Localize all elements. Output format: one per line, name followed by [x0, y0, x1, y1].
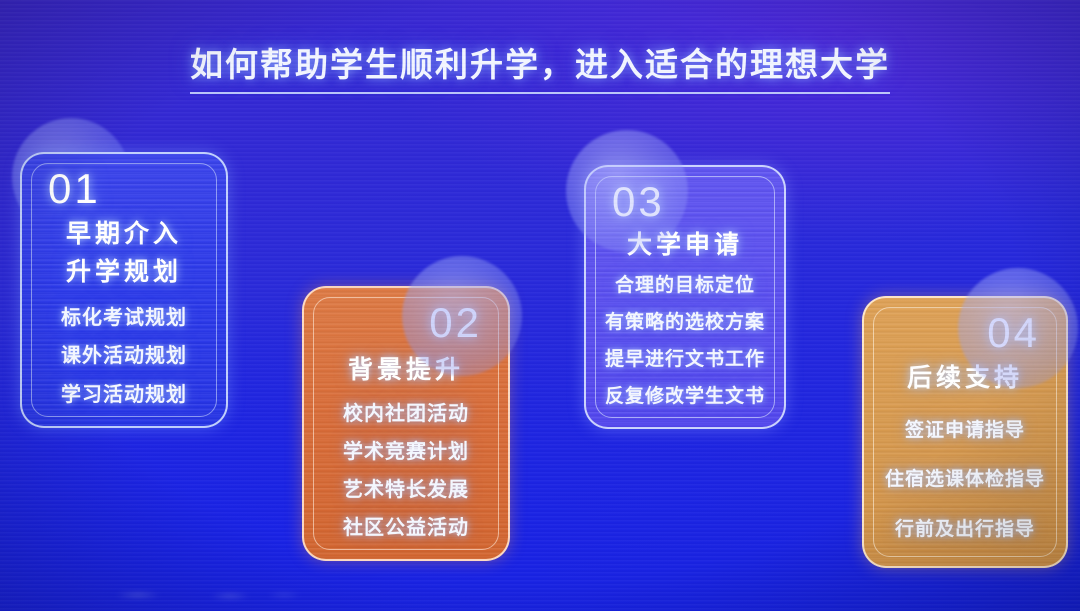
card-item: 学术竞赛计划 — [314, 435, 498, 464]
card-item: 社区公益活动 — [314, 511, 498, 540]
presentation-slide: 如何帮助学生顺利升学，进入适合的理想大学 01 早期介入 升学规划 标化考试规划… — [0, 0, 1080, 611]
card-item: 提早进行文书工作 — [596, 344, 774, 371]
card-item: 校内社团活动 — [314, 397, 498, 426]
card-item: 艺术特长发展 — [314, 473, 498, 502]
decorative-circle-4 — [958, 268, 1078, 388]
card-heading-line1: 早期介入 — [32, 214, 216, 250]
card-item: 标化考试规划 — [32, 301, 216, 330]
decorative-circle-3 — [566, 130, 688, 252]
card-item: 行前及出行指导 — [874, 514, 1056, 541]
card-item: 课外活动规划 — [32, 339, 216, 368]
card-heading-line2: 升学规划 — [32, 252, 216, 288]
decorative-circle-2 — [402, 256, 522, 376]
card-01[interactable]: 01 早期介入 升学规划 标化考试规划 课外活动规划 学习活动规划 — [20, 152, 228, 428]
card-item: 签证申请指导 — [874, 415, 1056, 442]
card-item: 有策略的选校方案 — [596, 307, 774, 334]
card-item: 住宿选课体检指导 — [874, 464, 1056, 491]
card-item: 学习活动规划 — [32, 378, 216, 407]
card-number: 01 — [48, 168, 101, 210]
card-item: 反复修改学生文书 — [596, 381, 774, 408]
screen-artifact — [112, 587, 302, 603]
slide-title: 如何帮助学生顺利升学，进入适合的理想大学 — [0, 38, 1080, 94]
card-item: 合理的目标定位 — [596, 270, 774, 297]
slide-title-text: 如何帮助学生顺利升学，进入适合的理想大学 — [190, 38, 890, 94]
